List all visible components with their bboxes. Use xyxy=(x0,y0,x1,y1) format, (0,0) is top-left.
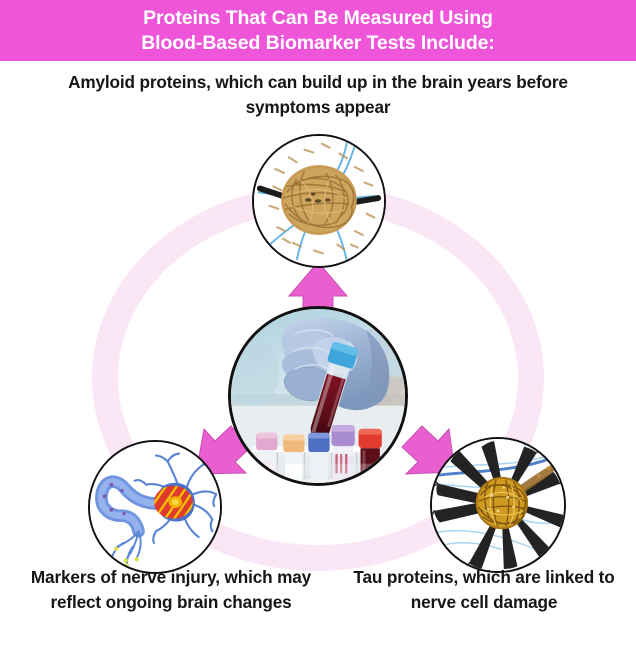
damaged-neuron-image xyxy=(90,442,220,572)
amyloid-plaque-image xyxy=(254,136,384,266)
tau-tangle-neuron-image xyxy=(432,439,564,571)
caption-nerve-injury: Markers of nerve injury, which may refle… xyxy=(22,565,320,615)
node-blood-sample xyxy=(228,306,408,486)
node-tau-protein xyxy=(430,437,566,573)
caption-amyloid: Amyloid proteins, which can build up in … xyxy=(68,70,568,120)
node-nerve-injury xyxy=(88,440,222,574)
infographic-root: Proteins That Can Be Measured Using Bloo… xyxy=(0,0,636,653)
caption-tau: Tau proteins, which are linked to nerve … xyxy=(336,565,632,615)
node-amyloid-plaque xyxy=(252,134,386,268)
blood-sample-tube-image xyxy=(231,309,405,483)
